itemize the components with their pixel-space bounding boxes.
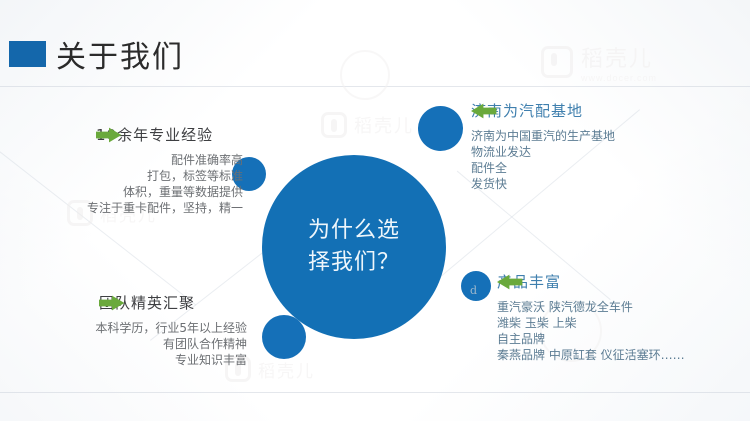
block-experience: 10余年专业经验 配件准确率高 打包，标签等标准 体积，重量等数据提供 专注于重… (96, 124, 243, 216)
watermark-logo-icon (541, 46, 573, 78)
block-base-line-3: 配件全 (471, 160, 615, 176)
watermark-word: 稻壳儿 (258, 357, 315, 382)
block-experience-line-2: 打包，标签等标准 (68, 168, 243, 184)
block-team: 团队精英汇聚 本科学历，行业5年以上经验 有团队合作精神 专业知识丰富 (99, 292, 247, 368)
center-circle-line-2: 择我们？ (294, 247, 414, 279)
block-base-line-4: 发货快 (471, 176, 615, 192)
watermark-word: 稻壳儿 (354, 112, 414, 138)
decor-circle-bottom-right: d (461, 271, 491, 301)
arrow-right-icon (99, 295, 125, 311)
arrow-left-icon (497, 274, 523, 290)
background-rule-top (0, 86, 750, 87)
watermark-center-top: 稻壳儿 (321, 112, 414, 138)
mini-circle-glyph: d (470, 284, 477, 297)
watermark-logo-icon (321, 112, 347, 138)
block-team-line-2: 有团队合作精神 (85, 336, 247, 352)
block-experience-line-4: 专注于重卡配件，坚持，精一 (68, 200, 243, 216)
block-products-line-4: 秦燕品牌 中原缸套 仪征活塞环…… (497, 347, 685, 363)
block-products-body: 重汽豪沃 陕汽德龙全车件 潍柴 玉柴 上柴 自主品牌 秦燕品牌 中原缸套 仪征活… (497, 299, 685, 363)
block-experience-line-3: 体积，重量等数据提供 (68, 184, 243, 200)
center-circle-line-1: 为什么选 (294, 215, 414, 247)
page-title: 关于我们 (56, 32, 184, 76)
slide-canvas: 稻壳儿 www.docer.com 稻壳儿 稻壳儿 稻壳儿 关于我们 d 为什么… (0, 0, 750, 421)
watermark-top-right: 稻壳儿 www.docer.com (541, 41, 657, 83)
decor-circle-top-right (418, 106, 463, 151)
block-base-line-1: 济南为中国重汽的生产基地 (471, 128, 615, 144)
center-circle: 为什么选 择我们？ (262, 155, 446, 339)
block-experience-body: 配件准确率高 打包，标签等标准 体积，重量等数据提供 专注于重卡配件，坚持，精一 (68, 152, 243, 216)
arrow-right-icon (96, 127, 122, 143)
center-circle-text: 为什么选 择我们？ (294, 215, 414, 279)
block-base-body: 济南为中国重汽的生产基地 物流业发达 配件全 发货快 (471, 128, 615, 192)
block-products-line-3: 自主品牌 (497, 331, 685, 347)
arrow-left-icon (471, 103, 497, 119)
watermark-ring (340, 50, 390, 100)
block-experience-line-1: 配件准确率高 (68, 152, 243, 168)
block-products-line-1: 重汽豪沃 陕汽德龙全车件 (497, 299, 685, 315)
title-marker-square (9, 41, 46, 67)
block-products: 产品丰富 重汽豪沃 陕汽德龙全车件 潍柴 玉柴 上柴 自主品牌 秦燕品牌 中原缸… (497, 271, 685, 363)
watermark-word: 稻壳儿 (581, 41, 657, 73)
block-team-body: 本科学历，行业5年以上经验 有团队合作精神 专业知识丰富 (85, 320, 247, 368)
watermark-url: www.docer.com (581, 73, 657, 83)
block-products-line-2: 潍柴 玉柴 上柴 (497, 315, 685, 331)
block-base-line-2: 物流业发达 (471, 144, 615, 160)
block-team-line-1: 本科学历，行业5年以上经验 (85, 320, 247, 336)
block-base: 济南为汽配基地 济南为中国重汽的生产基地 物流业发达 配件全 发货快 (471, 100, 615, 192)
background-rule-bottom (0, 392, 750, 393)
block-team-line-3: 专业知识丰富 (85, 352, 247, 368)
